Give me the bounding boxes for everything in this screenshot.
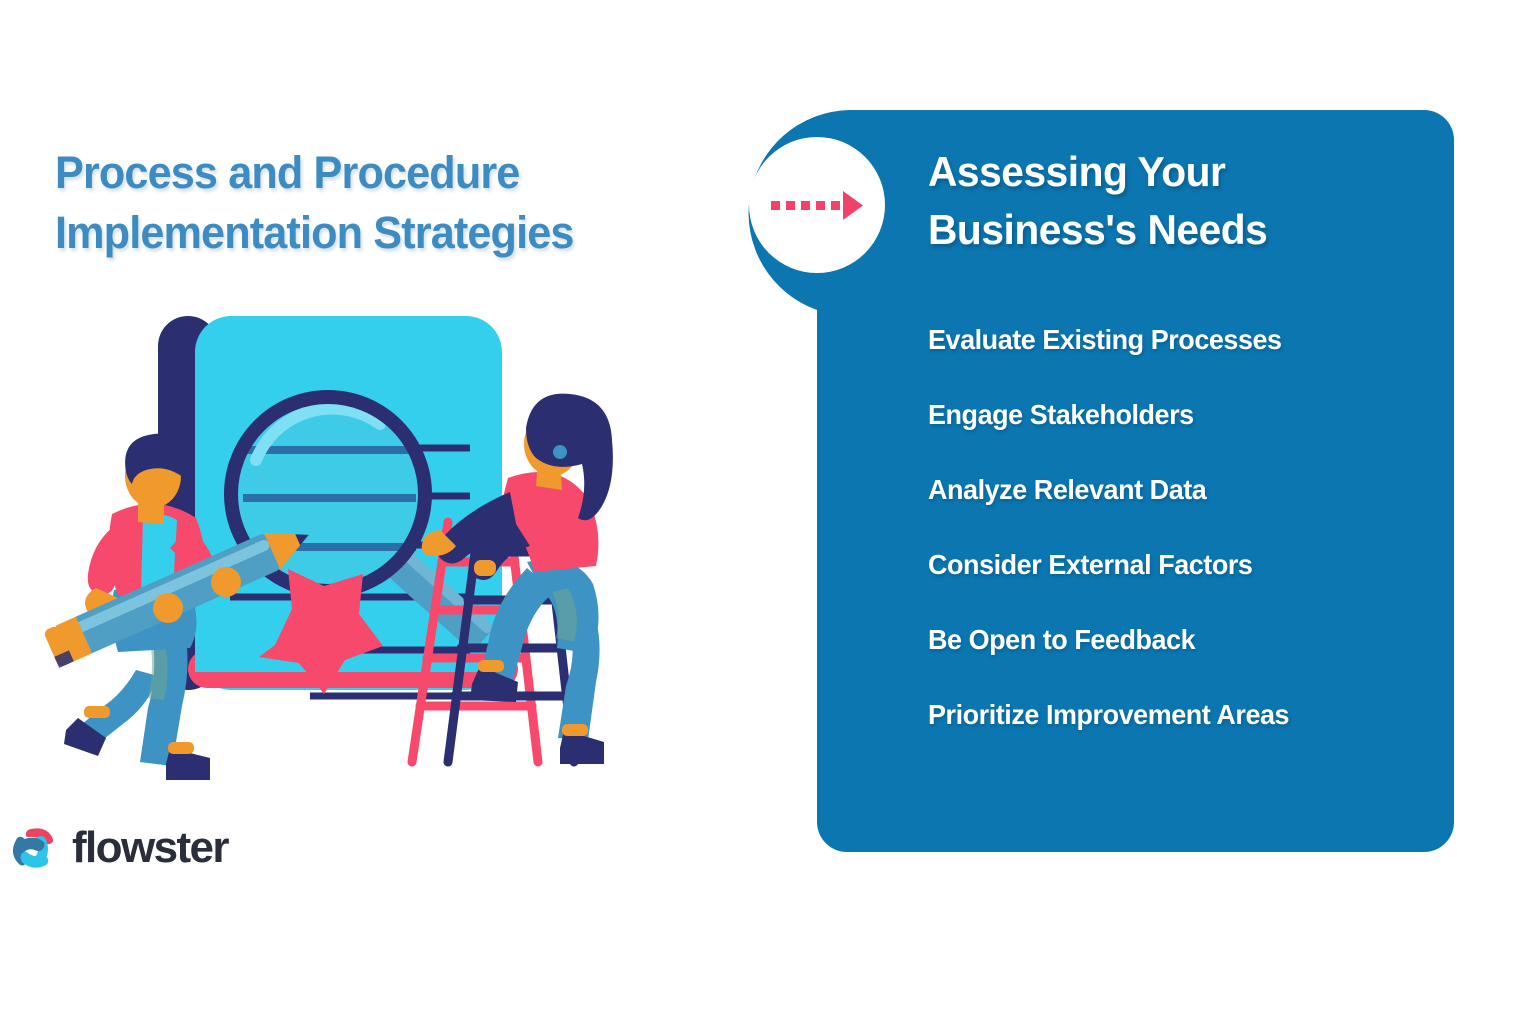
card-title: Assessing Your Business's Needs: [928, 143, 1384, 259]
flowster-swirl-logo-icon: [8, 823, 58, 873]
card-item-list: Evaluate Existing Processes Engage Stake…: [928, 326, 1428, 729]
list-item: Analyze Relevant Data: [928, 476, 1418, 504]
infographic-canvas: Process and Procedure Implementation Str…: [0, 0, 1536, 1024]
flowster-wordmark: flowster: [72, 826, 228, 870]
assessing-needs-card: Assessing Your Business's Needs Evaluate…: [714, 110, 1454, 852]
list-item: Be Open to Feedback: [928, 626, 1418, 654]
card-title-line-1: Assessing Your: [928, 143, 1384, 201]
step-badge: [749, 137, 885, 273]
people-inspecting-document-illustration: [40, 300, 660, 780]
dashed-arrow-right-icon: [769, 185, 865, 225]
card-title-line-2: Business's Needs: [928, 201, 1384, 259]
list-item: Evaluate Existing Processes: [928, 326, 1418, 354]
page-title-line-1: Process and Procedure: [55, 143, 631, 203]
page-title-line-2: Implementation Strategies: [55, 203, 631, 263]
list-item: Consider External Factors: [928, 551, 1418, 579]
left-column: Process and Procedure Implementation Str…: [0, 0, 700, 1024]
page-title: Process and Procedure Implementation Str…: [55, 143, 631, 263]
flowster-logo[interactable]: flowster: [8, 818, 228, 878]
list-item: Engage Stakeholders: [928, 401, 1418, 429]
list-item: Prioritize Improvement Areas: [928, 701, 1418, 729]
